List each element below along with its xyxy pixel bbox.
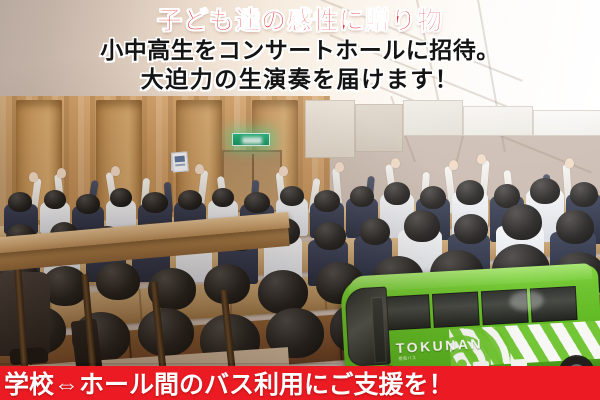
bus-window bbox=[432, 291, 480, 328]
headline-line-2: 小中高生をコンサートホールに招待。 bbox=[0, 36, 600, 65]
wall-panel bbox=[355, 104, 403, 152]
headline-block: 子ども達の感性に贈り物 小中高生をコンサートホールに招待。 大迫力の生演奏を届け… bbox=[0, 6, 600, 94]
bus-operator-subname: 徳南バス bbox=[398, 355, 416, 362]
footer-call-to-action: 学校⇔ホール間のバス利用にご支援を！ bbox=[0, 366, 600, 400]
emergency-exit-sign-icon bbox=[232, 133, 270, 146]
headline-line-1: 子ども達の感性に贈り物 bbox=[0, 6, 600, 36]
wall-panel bbox=[403, 100, 463, 136]
wall-panel bbox=[533, 110, 600, 136]
poster: TOKUNAN 徳南バス 子ども達の感性に贈り物 小中高生をコンサートホールに招… bbox=[0, 0, 600, 400]
bus-window bbox=[383, 294, 431, 331]
held-sign-card bbox=[171, 151, 189, 172]
wall-panel bbox=[463, 106, 533, 136]
headline-line-3: 大迫力の生演奏を届けます！ bbox=[0, 65, 600, 94]
